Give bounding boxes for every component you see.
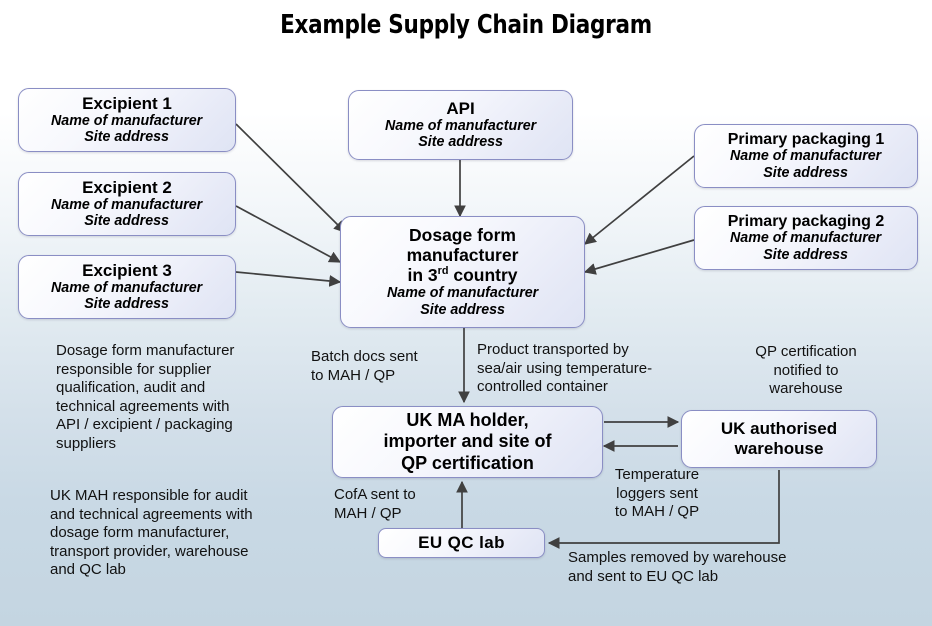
note-temperature-loggers: Temperature loggers sent to MAH / QP — [597, 466, 717, 522]
dosage-address: Site address — [420, 302, 505, 318]
note-product-transport: Product transported by sea/air using tem… — [477, 341, 667, 397]
node-excipient-3[interactable]: Excipient 3 Name of manufacturer Site ad… — [18, 255, 236, 319]
packaging-2-manufacturer: Name of manufacturer — [730, 230, 881, 246]
packaging-2-address: Site address — [764, 247, 849, 263]
packaging-1-address: Site address — [764, 165, 849, 181]
node-dosage-form-manufacturer[interactable]: Dosage form manufacturer in 3rd country … — [340, 216, 585, 328]
edge-excipient1-to-dosage — [236, 124, 345, 232]
dosage-manufacturer: Name of manufacturer — [387, 285, 538, 301]
dosage-ordinal-suffix: rd — [438, 265, 449, 277]
dosage-line-3-pre: in 3 — [407, 265, 437, 285]
note-mah-responsibility: UK MAH responsible for audit and technic… — [50, 487, 325, 580]
dosage-line-3: in 3rd country — [407, 266, 517, 286]
warehouse-line-1: UK authorised — [721, 419, 837, 439]
excipient-1-manufacturer: Name of manufacturer — [51, 113, 202, 129]
qclab-label: EU QC lab — [418, 534, 505, 552]
node-excipient-2[interactable]: Excipient 2 Name of manufacturer Site ad… — [18, 172, 236, 236]
packaging-1-manufacturer: Name of manufacturer — [730, 148, 881, 164]
node-eu-qc-lab[interactable]: EU QC lab — [378, 528, 545, 558]
dosage-line-3-post: country — [448, 265, 517, 285]
excipient-2-manufacturer: Name of manufacturer — [51, 197, 202, 213]
excipient-3-manufacturer: Name of manufacturer — [51, 280, 202, 296]
note-batch-docs: Batch docs sent to MAH / QP — [311, 348, 451, 385]
excipient-2-address: Site address — [85, 213, 170, 229]
note-dosage-responsibility: Dosage form manufacturer responsible for… — [56, 342, 306, 454]
node-uk-authorised-warehouse[interactable]: UK authorised warehouse — [681, 410, 877, 468]
diagram-canvas: Example Supply Chain Diagram Excipient 1 — [0, 0, 932, 626]
excipient-1-address: Site address — [85, 129, 170, 145]
node-api[interactable]: API Name of manufacturer Site address — [348, 90, 573, 160]
excipient-3-header: Excipient 3 — [82, 262, 172, 280]
edge-excipient2-to-dosage — [236, 206, 340, 262]
dosage-line-2: manufacturer — [407, 246, 519, 266]
packaging-1-header: Primary packaging 1 — [728, 131, 885, 148]
mah-line-2: importer and site of — [383, 431, 551, 452]
api-address: Site address — [418, 134, 503, 150]
note-samples-removed: Samples removed by warehouse and sent to… — [568, 549, 878, 586]
mah-line-3: QP certification — [401, 453, 534, 474]
api-header: API — [446, 100, 474, 118]
excipient-2-header: Excipient 2 — [82, 179, 172, 197]
note-qp-certification-notified: QP certification notified to warehouse — [732, 343, 880, 399]
packaging-2-header: Primary packaging 2 — [728, 213, 885, 230]
node-excipient-1[interactable]: Excipient 1 Name of manufacturer Site ad… — [18, 88, 236, 152]
api-manufacturer: Name of manufacturer — [385, 118, 536, 134]
node-uk-ma-holder[interactable]: UK MA holder, importer and site of QP ce… — [332, 406, 603, 478]
node-primary-packaging-1[interactable]: Primary packaging 1 Name of manufacturer… — [694, 124, 918, 188]
dosage-line-1: Dosage form — [409, 226, 516, 246]
edge-packaging2-to-dosage — [585, 240, 694, 272]
warehouse-line-2: warehouse — [735, 439, 824, 459]
node-primary-packaging-2[interactable]: Primary packaging 2 Name of manufacturer… — [694, 206, 918, 270]
excipient-1-header: Excipient 1 — [82, 95, 172, 113]
edge-packaging1-to-dosage — [585, 156, 694, 244]
excipient-3-address: Site address — [85, 296, 170, 312]
edge-excipient3-to-dosage — [236, 272, 340, 282]
mah-line-1: UK MA holder, — [406, 410, 528, 431]
note-cofa-sent: CofA sent to MAH / QP — [334, 486, 464, 523]
